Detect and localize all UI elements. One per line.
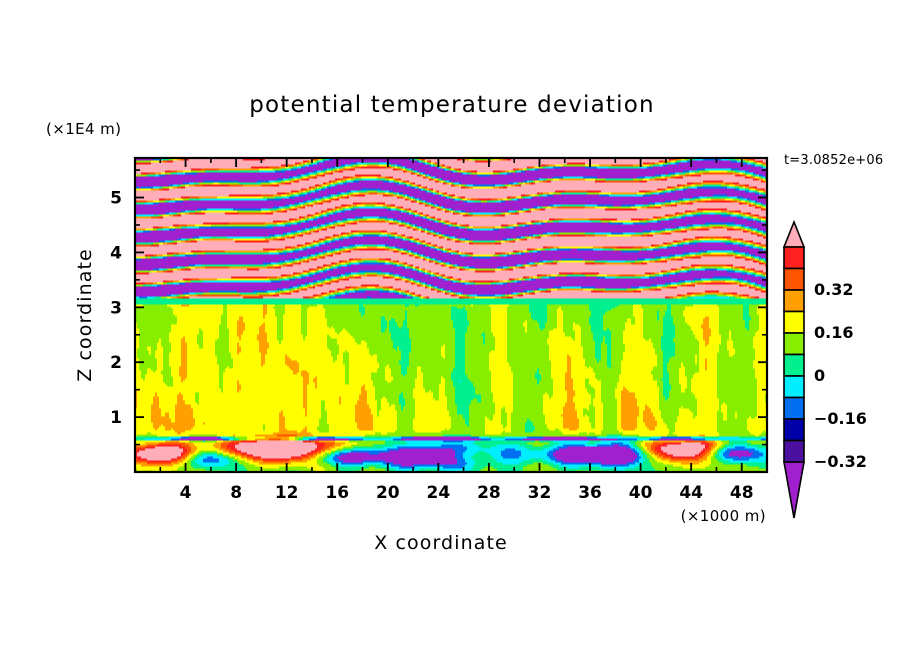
colorbar-segment [784, 247, 804, 269]
colorbar-tick-label: 0.32 [814, 280, 853, 299]
colorbar-tick-label: 0 [814, 366, 825, 385]
colorbar-tick-label: 0.16 [814, 323, 853, 342]
colorbar-segment [784, 355, 804, 377]
colorbar-segment [784, 376, 804, 398]
colorbar-segment [784, 269, 804, 291]
time-annotation: t=3.0852e+06 [784, 153, 883, 168]
contour-plot-figure: potential temperature deviation (×1E4 m)… [0, 0, 904, 654]
x-axis-unit-label: (×1000 m) [681, 507, 766, 525]
page-title: potential temperature deviation [249, 92, 655, 118]
y-axis-unit-label: (×1E4 m) [46, 120, 121, 138]
contour-plot-area [135, 158, 768, 473]
colorbar-segment [784, 290, 804, 312]
colorbar-segment [784, 398, 804, 420]
colorbar-segment [784, 419, 804, 441]
colorbar-segment [784, 441, 804, 463]
colorbar-segment [784, 312, 804, 334]
y-axis-title: Z coordinate [74, 248, 96, 382]
colorbar-tick-label: −0.16 [814, 409, 867, 428]
colorbar-tick-label: −0.32 [814, 452, 867, 471]
colorbar-segment [784, 333, 804, 355]
x-axis-title: X coordinate [374, 532, 508, 554]
